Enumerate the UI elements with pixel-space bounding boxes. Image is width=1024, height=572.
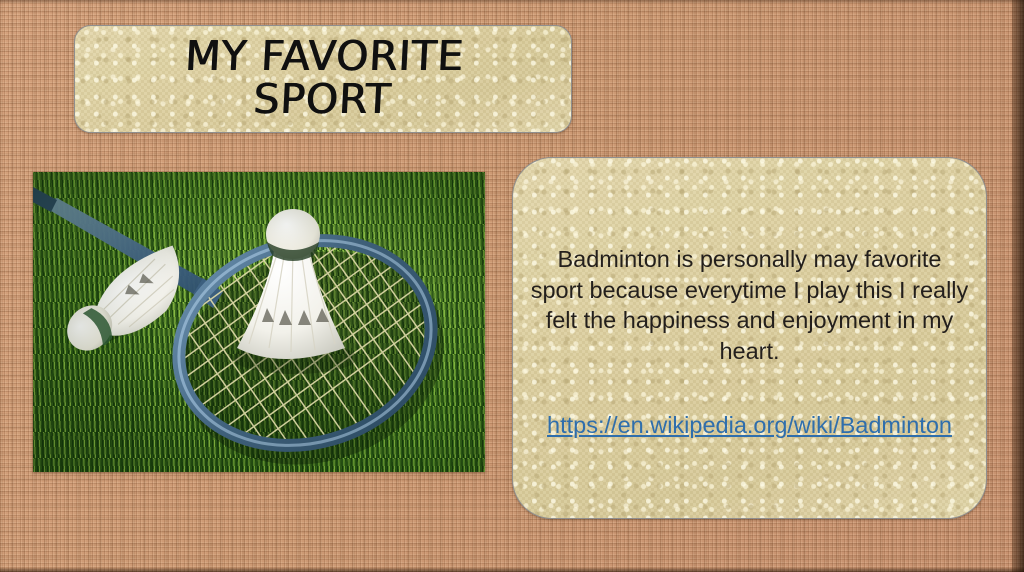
source-link-wrapper: https://en.wikipedia.org/wiki/Badminton xyxy=(529,410,970,441)
photo-vignette xyxy=(33,172,485,472)
slide-top-edge xyxy=(0,0,1024,3)
page-title: MY FAVORITE SPORT xyxy=(181,35,465,124)
content-panel[interactable]: Badminton is personally may favorite spo… xyxy=(512,157,987,519)
title-panel[interactable]: MY FAVORITE SPORT xyxy=(74,25,572,133)
slide-bottom-edge xyxy=(0,568,1024,572)
slide-right-edge xyxy=(1012,0,1024,572)
presentation-slide: MY FAVORITE SPORT xyxy=(0,0,1024,572)
source-link[interactable]: https://en.wikipedia.org/wiki/Badminton xyxy=(547,410,952,441)
body-paragraph: Badminton is personally may favorite spo… xyxy=(529,244,970,366)
badminton-photo[interactable] xyxy=(33,172,485,472)
